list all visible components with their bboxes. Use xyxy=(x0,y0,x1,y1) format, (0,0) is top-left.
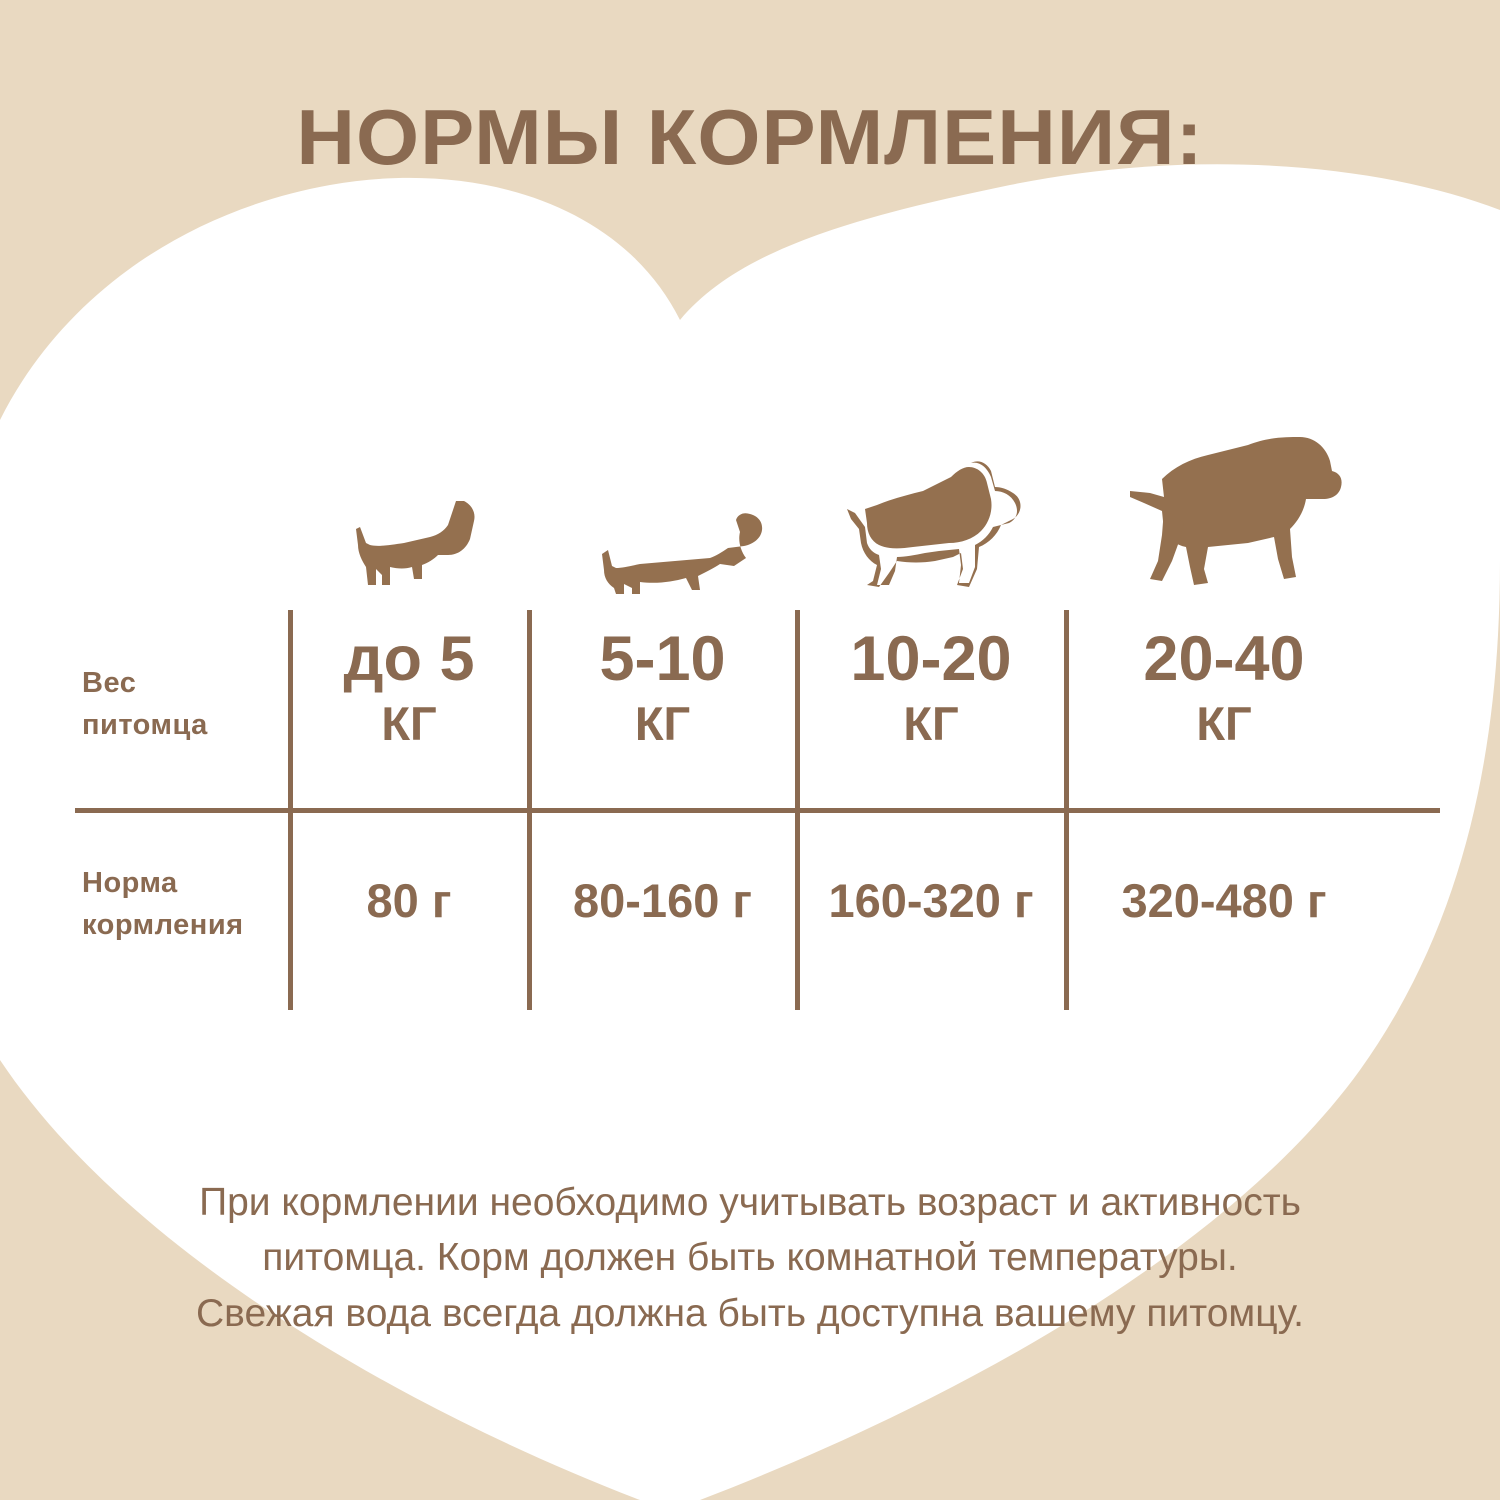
footer-line-3: Свежая вода всегда должна быть доступна … xyxy=(60,1286,1440,1341)
dog-xlarge-labrador-icon xyxy=(1128,427,1343,597)
footer-line-1: При кормлении необходимо учитывать возра… xyxy=(60,1175,1440,1230)
footer-line-2: питомца. Корм должен быть комнатной темп… xyxy=(60,1230,1440,1285)
feeding-guide-infographic: НОРМЫ КОРМЛЕНИЯ: xyxy=(0,0,1500,1500)
dog-medium-dachshund-icon xyxy=(600,492,765,597)
footer-note: При кормлении необходимо учитывать возра… xyxy=(60,1175,1440,1341)
page-title: НОРМЫ КОРМЛЕНИЯ: xyxy=(0,92,1500,183)
dog-silhouette-row xyxy=(0,400,1500,600)
dog-large-schnauzer-icon xyxy=(843,457,1023,597)
dog-small-chihuahua-icon xyxy=(352,487,482,597)
